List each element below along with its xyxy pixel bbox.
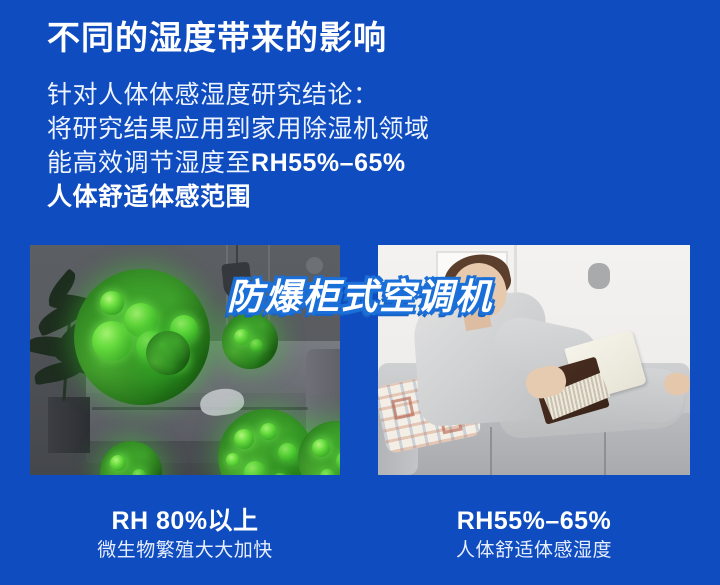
microbe-blob (278, 443, 297, 462)
pillow-motif (391, 396, 415, 420)
microbe-sphere (298, 421, 340, 475)
caption-right-sub: 人体舒适体感湿度 (378, 537, 690, 565)
caption-comfort-humidity: RH55%–65% 人体舒适体感湿度 (378, 505, 690, 565)
body-copy-block: 针对人体体感湿度研究结论： 将研究结果应用到家用除湿机领域 能高效调节湿度至RH… (47, 78, 467, 214)
microbe-blob (312, 439, 330, 457)
planter (48, 397, 90, 453)
poster-canvas: 不同的湿度带来的影响 针对人体体感湿度研究结论： 将研究结果应用到家用除湿机领域… (0, 0, 720, 585)
copy-line-3: 能高效调节湿度至RH55%–65% (47, 146, 467, 180)
wall-speaker (588, 263, 610, 289)
copy-line-2: 将研究结果应用到家用除湿机领域 (47, 112, 467, 146)
microbe-blob (260, 423, 277, 440)
caption-high-humidity: RH 80%以上 微生物繁殖大大加快 (30, 505, 340, 565)
caption-left-main: RH 80%以上 (30, 505, 340, 537)
microbe-sphere (146, 331, 190, 375)
microbe-sphere (100, 441, 162, 475)
caption-right-main: RH55%–65% (378, 505, 690, 537)
microbe-blob (250, 339, 263, 352)
overlay-slogan: 防爆柜式空调机 (227, 275, 493, 319)
person-foot (664, 373, 690, 395)
microbe-blob (234, 329, 250, 345)
page-title: 不同的湿度带来的影响 (47, 16, 387, 60)
copy-line-4: 人体舒适体感范围 (47, 180, 467, 214)
copy-line-1: 针对人体体感湿度研究结论： (47, 78, 467, 112)
light-sofa-seam (490, 427, 492, 475)
microbe-blob (320, 469, 335, 475)
copy-line-3-prefix: 能高效调节湿度至 (47, 149, 251, 177)
microbe-blob (110, 455, 126, 471)
microbe-blob (132, 469, 146, 475)
microbe-sphere (222, 313, 278, 369)
wall-knob (306, 257, 323, 274)
microbe-blob (92, 321, 132, 361)
light-sofa-seam (604, 427, 606, 475)
microbe-blob (100, 291, 124, 315)
microbe-blob (244, 461, 266, 475)
microbe-blob (336, 451, 340, 471)
copy-line-3-highlight: RH55%–65% (251, 149, 406, 177)
microbe-blob (234, 429, 254, 449)
caption-left-sub: 微生物繁殖大大加快 (30, 537, 340, 565)
microbe-blob (272, 473, 288, 475)
microbe-blob (226, 453, 240, 467)
